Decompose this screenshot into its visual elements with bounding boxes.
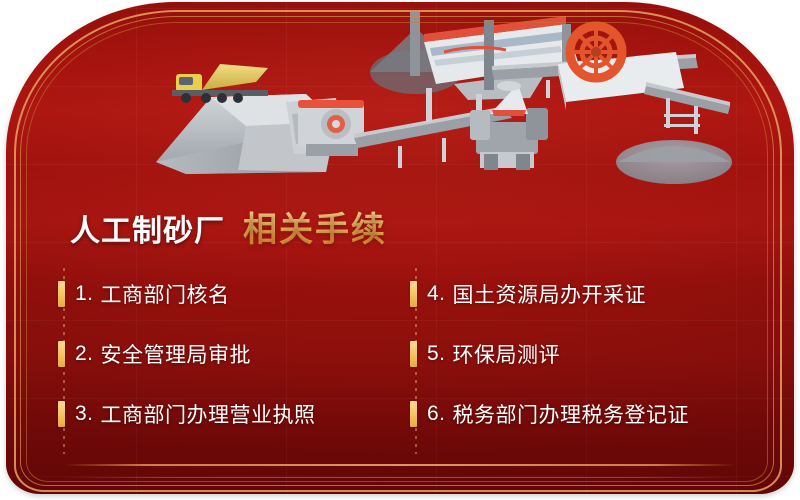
list-item-label: 税务部门办理税务登记证 bbox=[453, 399, 690, 429]
list-item-label: 工商部门办理营业执照 bbox=[101, 399, 316, 429]
list-item[interactable]: 2. 安全管理局审批 bbox=[58, 324, 413, 384]
list-item-number: 4. bbox=[427, 282, 446, 306]
bottom-gold-rule bbox=[64, 477, 736, 478]
list-item[interactable]: 4. 国土资源局办开采证 bbox=[410, 264, 765, 324]
list-item[interactable]: 5. 环保局测评 bbox=[410, 324, 765, 384]
procedure-list: 1. 工商部门核名 2. 安全管理局审批 3. 工商部门办理营业执照 bbox=[6, 264, 794, 464]
bottom-gold-rule bbox=[64, 470, 736, 473]
procedure-column-right: 4. 国土资源局办开采证 5. 环保局测评 6. 税务部门办理税务登记证 bbox=[410, 264, 765, 444]
bottom-gold-rule bbox=[64, 464, 736, 466]
list-marker-icon bbox=[410, 281, 417, 307]
list-marker-icon bbox=[58, 341, 65, 367]
list-item-label: 国土资源局办开采证 bbox=[453, 279, 647, 309]
headline-primary: 人工制砂厂 bbox=[70, 206, 225, 250]
list-item-number: 1. bbox=[75, 282, 94, 306]
list-marker-icon bbox=[58, 401, 65, 427]
list-marker-icon bbox=[410, 341, 417, 367]
list-item-label: 工商部门核名 bbox=[101, 279, 230, 309]
list-marker-icon bbox=[58, 281, 65, 307]
list-item[interactable]: 1. 工商部门核名 bbox=[58, 264, 413, 324]
banner-stage: 人工制砂厂 相关手续 1. 工商部门核名 2. 安全管理局审批 bbox=[0, 0, 800, 500]
procedure-column-left: 1. 工商部门核名 2. 安全管理局审批 3. 工商部门办理营业执照 bbox=[58, 264, 413, 444]
list-item-label: 环保局测评 bbox=[453, 339, 561, 369]
headline-accent: 相关手续 bbox=[243, 202, 387, 251]
list-item-label: 安全管理局审批 bbox=[101, 339, 252, 369]
list-item-number: 2. bbox=[75, 342, 94, 366]
sand-plant-illustration bbox=[6, 2, 794, 198]
banner-headline: 人工制砂厂 相关手续 bbox=[70, 202, 387, 251]
list-item[interactable]: 6. 税务部门办理税务登记证 bbox=[410, 384, 765, 444]
red-banner-plate: 人工制砂厂 相关手续 1. 工商部门核名 2. 安全管理局审批 bbox=[6, 2, 794, 494]
list-item-number: 5. bbox=[427, 342, 446, 366]
list-item-number: 6. bbox=[427, 402, 446, 426]
list-item-number: 3. bbox=[75, 402, 94, 426]
list-item[interactable]: 3. 工商部门办理营业执照 bbox=[58, 384, 413, 444]
list-marker-icon bbox=[410, 401, 417, 427]
